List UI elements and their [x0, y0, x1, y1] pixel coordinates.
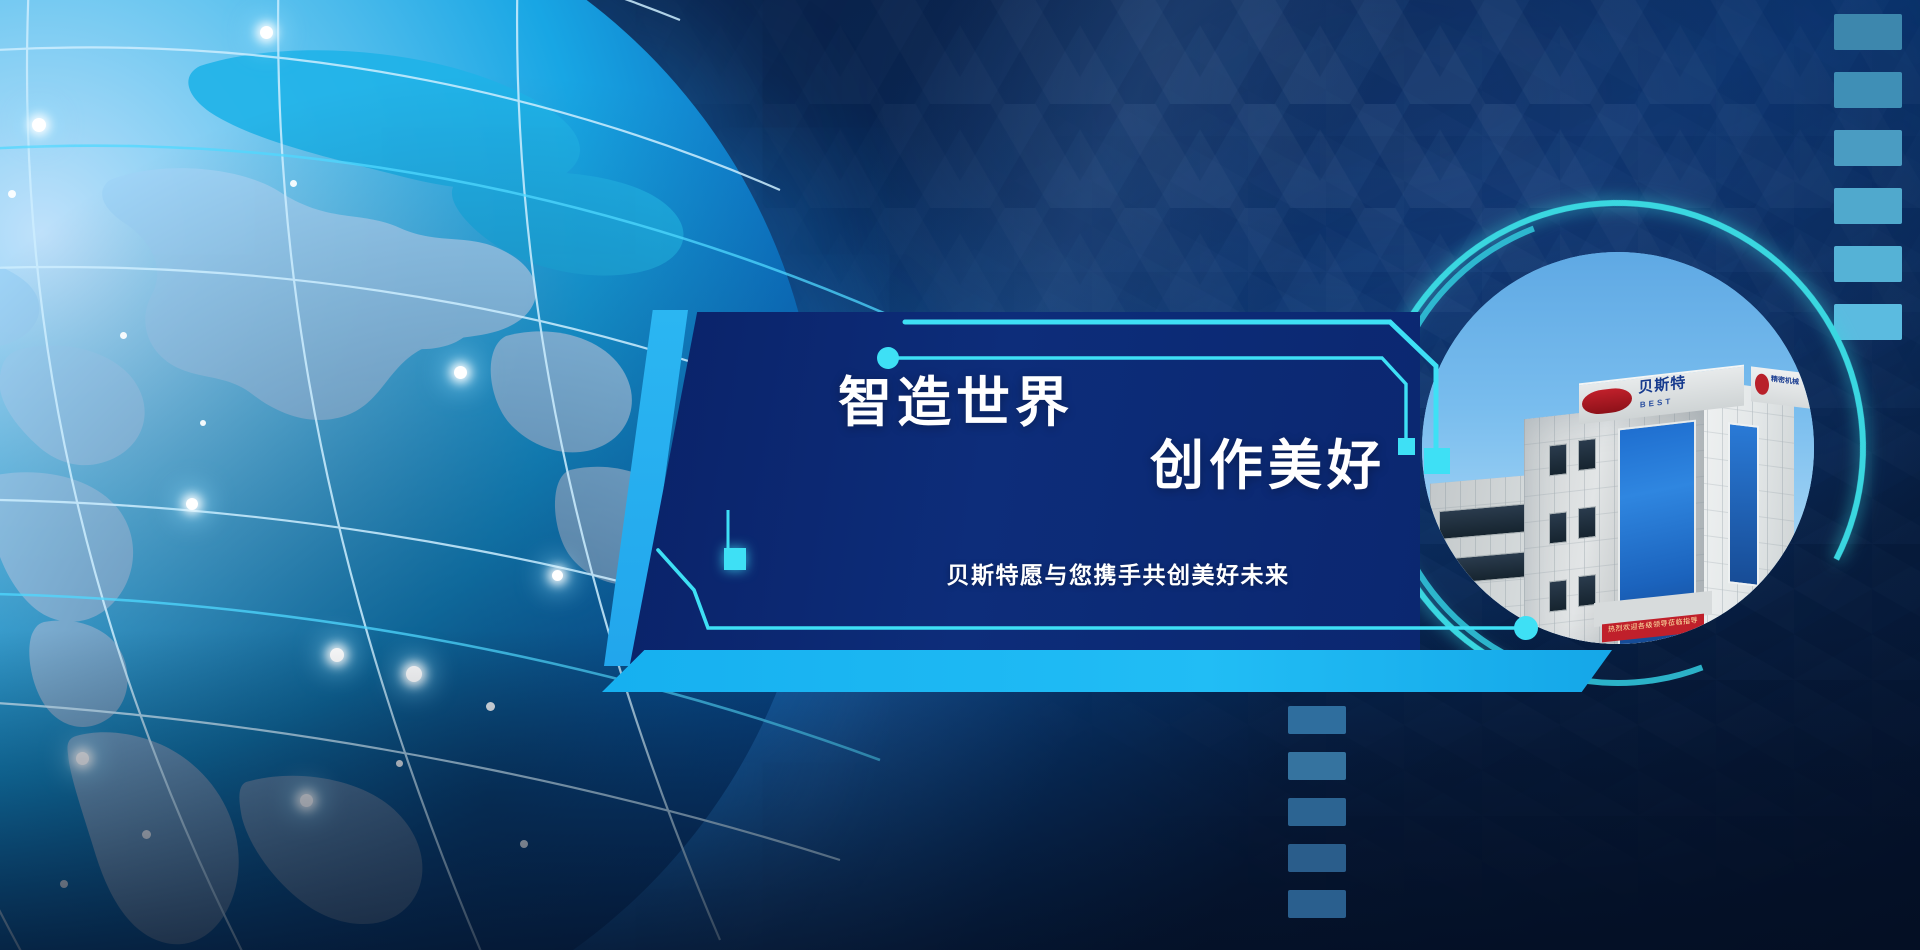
hero-title-line2: 创作美好	[838, 435, 1398, 498]
rooftop-signboard-secondary: 精密机械	[1751, 366, 1810, 408]
sign-secondary-cn: 精密机械	[1771, 375, 1799, 386]
edge-block	[1834, 130, 1902, 166]
glass-curtain-wall-side	[1728, 423, 1759, 588]
hero-title-line1: 智造世界	[838, 372, 1398, 435]
lower-block-stack	[1288, 706, 1346, 918]
network-node	[32, 118, 46, 132]
edge-block	[1834, 14, 1902, 50]
network-node	[186, 498, 198, 510]
lower-block	[1288, 752, 1346, 780]
network-node	[454, 366, 467, 379]
lower-block	[1288, 706, 1346, 734]
circuit-node-square	[1398, 438, 1415, 455]
network-dot	[8, 190, 16, 198]
secondary-logo-mark	[1755, 372, 1769, 395]
hero-subtitle: 贝斯特愿与您携手共创美好未来	[838, 556, 1398, 590]
network-node	[260, 26, 273, 39]
lower-block	[1288, 844, 1346, 872]
lower-block	[1288, 798, 1346, 826]
lower-block	[1288, 890, 1346, 918]
network-dot	[290, 180, 297, 187]
circuit-node-square	[1424, 448, 1450, 474]
edge-block	[1834, 72, 1902, 108]
network-node	[552, 570, 563, 581]
network-dot	[120, 332, 127, 339]
sign-primary-cn: 贝斯特	[1638, 375, 1686, 395]
banner-stage: 贝斯特 BEST 精密机械 热烈欢迎各级领导莅临指导 智造世界 创作	[0, 0, 1920, 950]
network-dot	[200, 420, 206, 426]
circuit-decoration	[600, 300, 1620, 700]
sign-primary-en: BEST	[1640, 397, 1673, 409]
hero-title-block: 智造世界 创作美好	[838, 372, 1398, 497]
circuit-node-dot	[1514, 616, 1538, 640]
